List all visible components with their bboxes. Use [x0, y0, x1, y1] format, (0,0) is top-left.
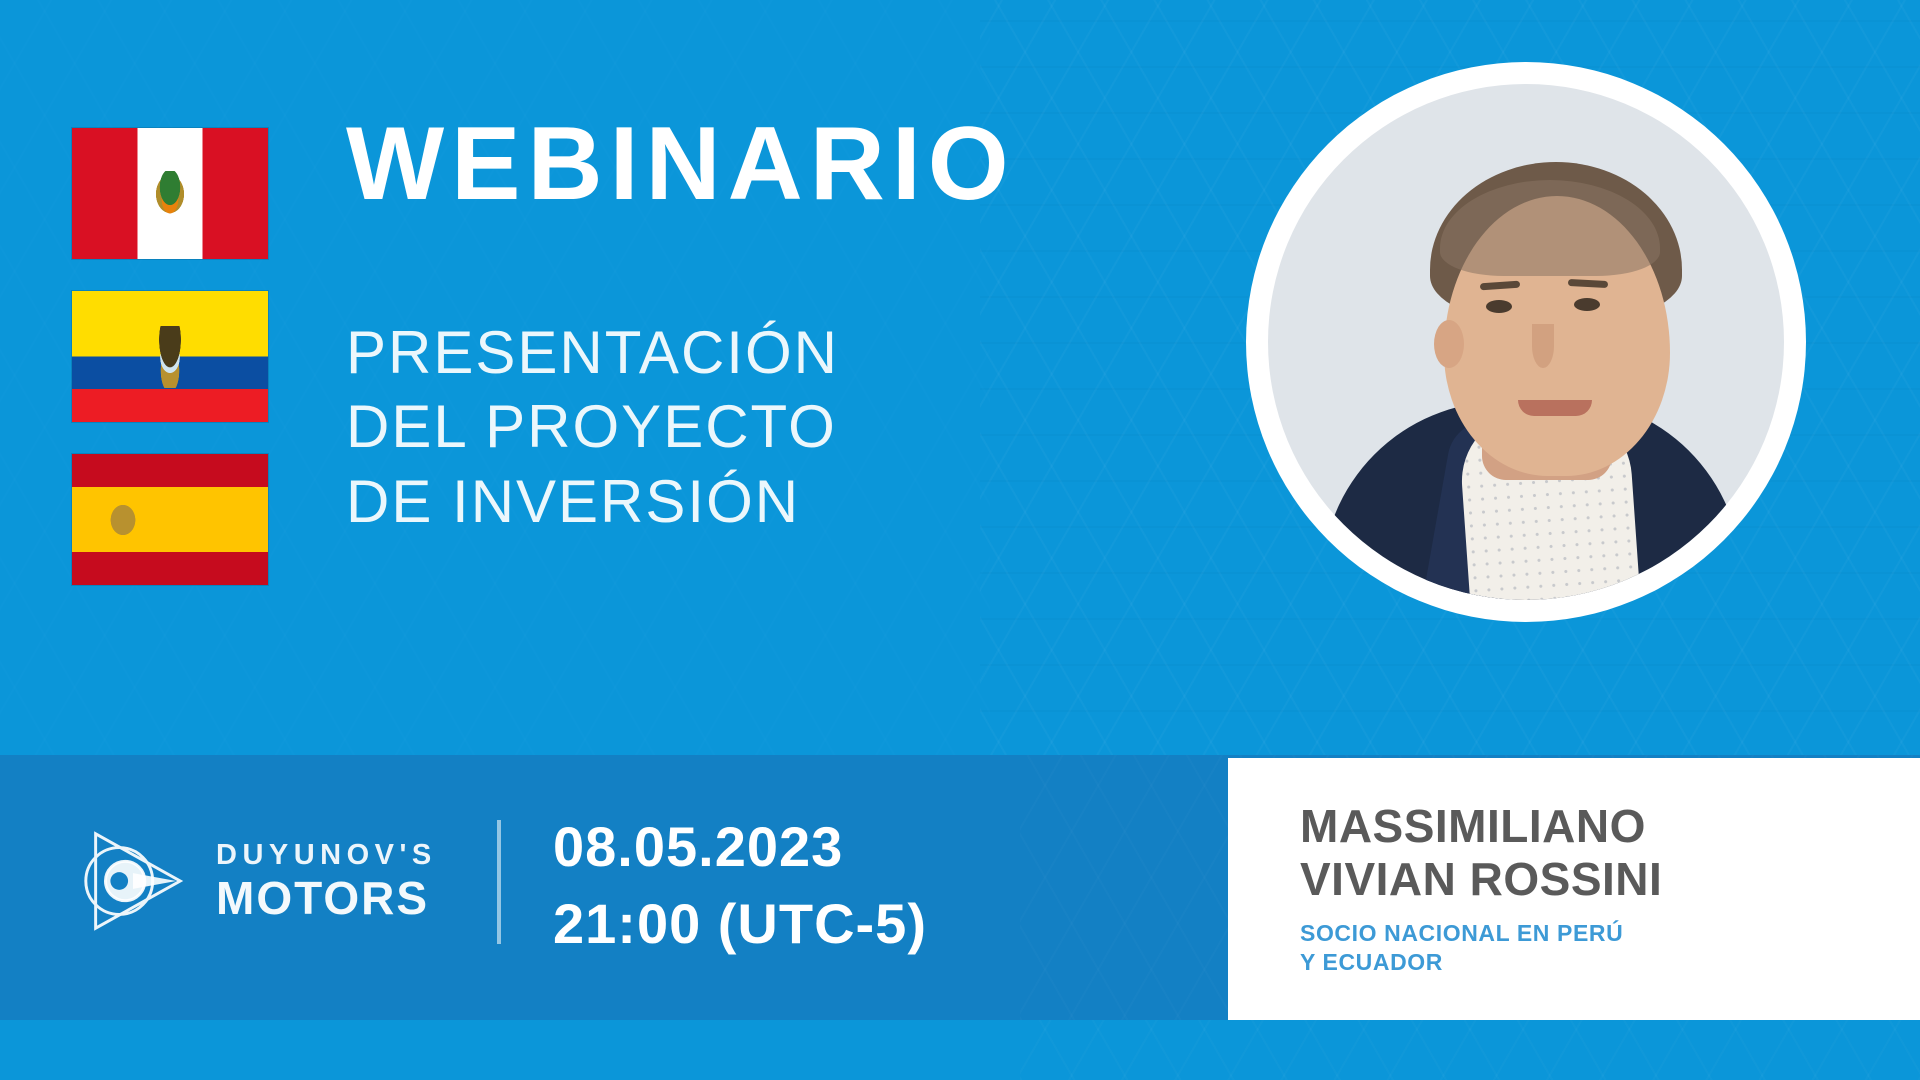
spain-coat-of-arms-icon [105, 498, 141, 542]
speaker-portrait [1268, 84, 1784, 600]
portrait-ear [1434, 320, 1464, 368]
subtitle-line-3: DE INVERSIÓN [346, 465, 1166, 539]
webinar-banner: WEBINARIO PRESENTACIÓN DEL PROYECTO DE I… [0, 0, 1920, 1080]
brand-logo[interactable]: DUYUNOV'S MOTORS [74, 822, 437, 940]
speaker-name-line-2: VIVIAN ROSSINI [1300, 853, 1902, 906]
peru-flag [72, 128, 268, 259]
speaker-name-line-1: MASSIMILIANO [1300, 800, 1902, 853]
speaker-role-line-2: Y ECUADOR [1300, 948, 1902, 977]
portrait-eye-left [1486, 300, 1512, 313]
subtitle-block: PRESENTACIÓN DEL PROYECTO DE INVERSIÓN [346, 216, 1166, 539]
brand-wordmark: DUYUNOV'S MOTORS [216, 841, 437, 921]
event-time: 21:00 (UTC-5) [553, 885, 927, 962]
spain-flag [72, 454, 268, 585]
schedule-block: 08.05.2023 21:00 (UTC-5) [553, 808, 927, 963]
headline-block: WEBINARIO PRESENTACIÓN DEL PROYECTO DE I… [346, 112, 1166, 539]
speaker-name-card: MASSIMILIANO VIVIAN ROSSINI SOCIO NACION… [1228, 758, 1920, 1020]
footer-divider [497, 820, 501, 944]
ecuador-flag [72, 291, 268, 422]
event-date: 08.05.2023 [553, 808, 927, 885]
duyunov-rotor-icon [74, 822, 192, 940]
peru-coat-of-arms-icon [153, 171, 187, 217]
bottom-strip [0, 1020, 1920, 1080]
flags-column [72, 128, 268, 585]
portrait-mouth [1518, 400, 1592, 416]
speaker-name-card-inner: MASSIMILIANO VIVIAN ROSSINI SOCIO NACION… [1300, 800, 1902, 977]
brand-name-top: DUYUNOV'S [216, 841, 437, 870]
speaker-role-line-1: SOCIO NACIONAL EN PERÚ [1300, 919, 1902, 948]
brand-name-bottom: MOTORS [216, 875, 437, 921]
bottom-strip-pattern [1020, 1020, 1920, 1080]
ecuador-coat-of-arms-icon [151, 326, 189, 388]
subtitle-line-2: DEL PROYECTO [346, 390, 1166, 464]
speaker-photo-ring [1246, 62, 1806, 622]
portrait-nose [1532, 324, 1554, 368]
page-title: WEBINARIO [346, 112, 1166, 216]
portrait-eye-right [1574, 298, 1600, 311]
subtitle-line-1: PRESENTACIÓN [346, 316, 1166, 390]
